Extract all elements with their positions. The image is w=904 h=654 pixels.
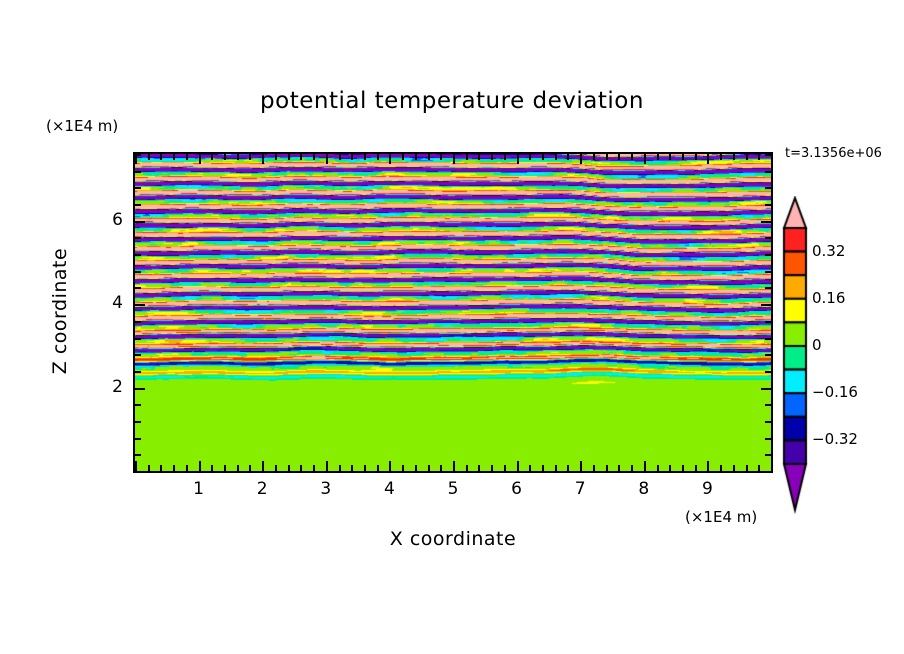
x-tick-label: 2 bbox=[242, 479, 282, 499]
x-minor-tick bbox=[504, 465, 506, 471]
x-minor-tick bbox=[593, 465, 595, 471]
y-minor-tick-right bbox=[765, 338, 771, 340]
x-minor-tick bbox=[567, 465, 569, 471]
x-major-tick-top bbox=[326, 154, 328, 164]
timestamp-label: t=3.1356e+06 bbox=[785, 146, 882, 161]
y-minor-tick bbox=[135, 454, 141, 456]
contour-plot-frame bbox=[133, 152, 773, 473]
x-major-tick-top bbox=[389, 154, 391, 164]
x-major-tick bbox=[707, 461, 709, 471]
x-minor-tick bbox=[339, 465, 341, 471]
y-minor-tick bbox=[135, 371, 141, 373]
x-minor-tick bbox=[249, 465, 251, 471]
y-minor-tick bbox=[135, 287, 141, 289]
x-minor-tick-top bbox=[631, 154, 633, 160]
x-minor-tick-top bbox=[758, 154, 760, 160]
y-minor-tick bbox=[135, 254, 141, 256]
x-tick-label: 3 bbox=[306, 479, 346, 499]
x-minor-tick-top bbox=[504, 154, 506, 160]
y-minor-tick-right bbox=[765, 371, 771, 373]
x-minor-tick bbox=[300, 465, 302, 471]
x-major-tick bbox=[389, 461, 391, 471]
x-minor-tick-top bbox=[720, 154, 722, 160]
x-minor-tick-top bbox=[428, 154, 430, 160]
x-minor-tick bbox=[669, 465, 671, 471]
x-minor-tick-top bbox=[746, 154, 748, 160]
x-major-tick-top bbox=[771, 154, 773, 164]
colorbar-tick-label: 0 bbox=[812, 336, 822, 354]
y-minor-tick bbox=[135, 421, 141, 423]
y-minor-tick-right bbox=[765, 438, 771, 440]
y-minor-tick bbox=[135, 187, 141, 189]
y-minor-tick bbox=[135, 321, 141, 323]
x-minor-tick-top bbox=[173, 154, 175, 160]
x-minor-tick-top bbox=[593, 154, 595, 160]
x-minor-tick-top bbox=[377, 154, 379, 160]
x-minor-tick-top bbox=[657, 154, 659, 160]
x-major-tick-top bbox=[199, 154, 201, 164]
x-tick-label: 8 bbox=[624, 479, 664, 499]
x-minor-tick-top bbox=[695, 154, 697, 160]
x-minor-tick bbox=[186, 465, 188, 471]
colorbar bbox=[778, 196, 814, 516]
x-minor-tick bbox=[555, 465, 557, 471]
x-minor-tick-top bbox=[491, 154, 493, 160]
y-major-tick-right bbox=[761, 388, 771, 390]
x-major-tick bbox=[580, 461, 582, 471]
x-minor-tick-top bbox=[339, 154, 341, 160]
x-minor-tick-top bbox=[669, 154, 671, 160]
x-tick-label: 5 bbox=[433, 479, 473, 499]
x-minor-tick-top bbox=[440, 154, 442, 160]
x-major-tick-top bbox=[644, 154, 646, 164]
x-minor-tick-top bbox=[313, 154, 315, 160]
y-tick-label: 4 bbox=[83, 293, 123, 313]
colorbar-tick-label: −0.16 bbox=[812, 383, 858, 401]
x-minor-tick bbox=[160, 465, 162, 471]
x-minor-tick-top bbox=[300, 154, 302, 160]
x-major-tick bbox=[517, 461, 519, 471]
colorbar-tick-label: −0.32 bbox=[812, 430, 858, 448]
y-minor-tick-right bbox=[765, 354, 771, 356]
x-minor-tick-top bbox=[148, 154, 150, 160]
x-minor-tick bbox=[148, 465, 150, 471]
y-minor-tick-right bbox=[765, 421, 771, 423]
x-tick-label: 6 bbox=[497, 479, 537, 499]
x-major-tick bbox=[262, 461, 264, 471]
x-minor-tick bbox=[288, 465, 290, 471]
x-minor-tick bbox=[351, 465, 353, 471]
x-minor-tick-top bbox=[237, 154, 239, 160]
x-minor-tick-top bbox=[733, 154, 735, 160]
x-tick-label: 7 bbox=[560, 479, 600, 499]
x-major-tick bbox=[199, 461, 201, 471]
x-tick-label: 9 bbox=[687, 479, 727, 499]
y-minor-tick-right bbox=[765, 254, 771, 256]
y-major-tick bbox=[135, 304, 145, 306]
x-minor-tick bbox=[224, 465, 226, 471]
y-minor-tick-right bbox=[765, 187, 771, 189]
x-minor-tick-top bbox=[618, 154, 620, 160]
x-tick-label: 1 bbox=[179, 479, 219, 499]
x-minor-tick-top bbox=[606, 154, 608, 160]
x-minor-tick bbox=[529, 465, 531, 471]
y-minor-tick bbox=[135, 338, 141, 340]
y-major-tick bbox=[135, 471, 145, 473]
x-minor-tick bbox=[377, 465, 379, 471]
x-minor-tick-top bbox=[478, 154, 480, 160]
x-minor-tick bbox=[733, 465, 735, 471]
y-minor-tick-right bbox=[765, 404, 771, 406]
y-major-tick bbox=[135, 221, 145, 223]
x-minor-tick-top bbox=[529, 154, 531, 160]
colorbar-tick-label: 0.32 bbox=[812, 242, 845, 260]
x-minor-tick-top bbox=[682, 154, 684, 160]
x-minor-tick-top bbox=[364, 154, 366, 160]
x-major-tick bbox=[453, 461, 455, 471]
x-minor-tick bbox=[746, 465, 748, 471]
x-minor-tick-top bbox=[567, 154, 569, 160]
y-minor-tick-right bbox=[765, 454, 771, 456]
y-major-tick-right bbox=[761, 471, 771, 473]
y-minor-tick bbox=[135, 271, 141, 273]
x-minor-tick bbox=[275, 465, 277, 471]
y-minor-tick-right bbox=[765, 287, 771, 289]
y-tick-label: 6 bbox=[83, 210, 123, 230]
x-minor-tick bbox=[402, 465, 404, 471]
x-minor-tick-top bbox=[542, 154, 544, 160]
x-minor-tick bbox=[237, 465, 239, 471]
x-minor-tick-top bbox=[402, 154, 404, 160]
x-major-tick-top bbox=[517, 154, 519, 164]
y-minor-tick bbox=[135, 354, 141, 356]
x-minor-tick bbox=[758, 465, 760, 471]
x-minor-tick bbox=[478, 465, 480, 471]
x-major-tick bbox=[771, 461, 773, 471]
x-minor-tick bbox=[631, 465, 633, 471]
x-major-tick-top bbox=[262, 154, 264, 164]
x-minor-tick bbox=[542, 465, 544, 471]
x-minor-tick-top bbox=[351, 154, 353, 160]
y-minor-tick bbox=[135, 438, 141, 440]
y-major-tick-right bbox=[761, 221, 771, 223]
y-minor-tick-right bbox=[765, 271, 771, 273]
contour-field bbox=[135, 154, 771, 471]
x-minor-tick-top bbox=[275, 154, 277, 160]
y-major-tick-right bbox=[761, 304, 771, 306]
x-major-tick bbox=[135, 461, 137, 471]
page-title: potential temperature deviation bbox=[0, 88, 904, 114]
x-minor-tick-top bbox=[466, 154, 468, 160]
y-minor-tick bbox=[135, 171, 141, 173]
x-major-tick-top bbox=[707, 154, 709, 164]
x-minor-tick bbox=[415, 465, 417, 471]
x-minor-tick-top bbox=[211, 154, 213, 160]
x-minor-tick bbox=[606, 465, 608, 471]
x-major-tick bbox=[644, 461, 646, 471]
x-major-tick bbox=[326, 461, 328, 471]
x-axis-title: X coordinate bbox=[133, 528, 773, 550]
y-minor-tick-right bbox=[765, 154, 771, 156]
x-minor-tick bbox=[695, 465, 697, 471]
y-minor-tick-right bbox=[765, 237, 771, 239]
x-minor-tick bbox=[657, 465, 659, 471]
x-minor-tick bbox=[440, 465, 442, 471]
y-minor-tick-right bbox=[765, 321, 771, 323]
x-minor-tick bbox=[313, 465, 315, 471]
x-minor-tick bbox=[618, 465, 620, 471]
y-minor-tick-right bbox=[765, 204, 771, 206]
x-minor-tick-top bbox=[415, 154, 417, 160]
y-axis-units-label: (×1E4 m) bbox=[46, 117, 118, 135]
y-minor-tick bbox=[135, 204, 141, 206]
colorbar-swatches bbox=[778, 196, 814, 516]
y-minor-tick bbox=[135, 154, 141, 156]
y-minor-tick bbox=[135, 404, 141, 406]
x-minor-tick-top bbox=[160, 154, 162, 160]
x-axis-units-label: (×1E4 m) bbox=[685, 508, 757, 526]
x-minor-tick bbox=[364, 465, 366, 471]
colorbar-tick-label: 0.16 bbox=[812, 289, 845, 307]
x-major-tick-top bbox=[580, 154, 582, 164]
x-minor-tick bbox=[211, 465, 213, 471]
x-tick-label: 4 bbox=[369, 479, 409, 499]
x-minor-tick bbox=[173, 465, 175, 471]
x-minor-tick-top bbox=[249, 154, 251, 160]
y-minor-tick-right bbox=[765, 171, 771, 173]
x-minor-tick-top bbox=[186, 154, 188, 160]
x-major-tick-top bbox=[453, 154, 455, 164]
x-minor-tick-top bbox=[224, 154, 226, 160]
y-major-tick bbox=[135, 388, 145, 390]
y-minor-tick bbox=[135, 237, 141, 239]
x-minor-tick bbox=[466, 465, 468, 471]
x-minor-tick-top bbox=[555, 154, 557, 160]
x-minor-tick bbox=[682, 465, 684, 471]
x-minor-tick-top bbox=[288, 154, 290, 160]
y-tick-label: 2 bbox=[83, 377, 123, 397]
y-axis-title: Z coordinate bbox=[49, 221, 71, 401]
x-minor-tick bbox=[720, 465, 722, 471]
x-minor-tick bbox=[428, 465, 430, 471]
x-minor-tick bbox=[491, 465, 493, 471]
